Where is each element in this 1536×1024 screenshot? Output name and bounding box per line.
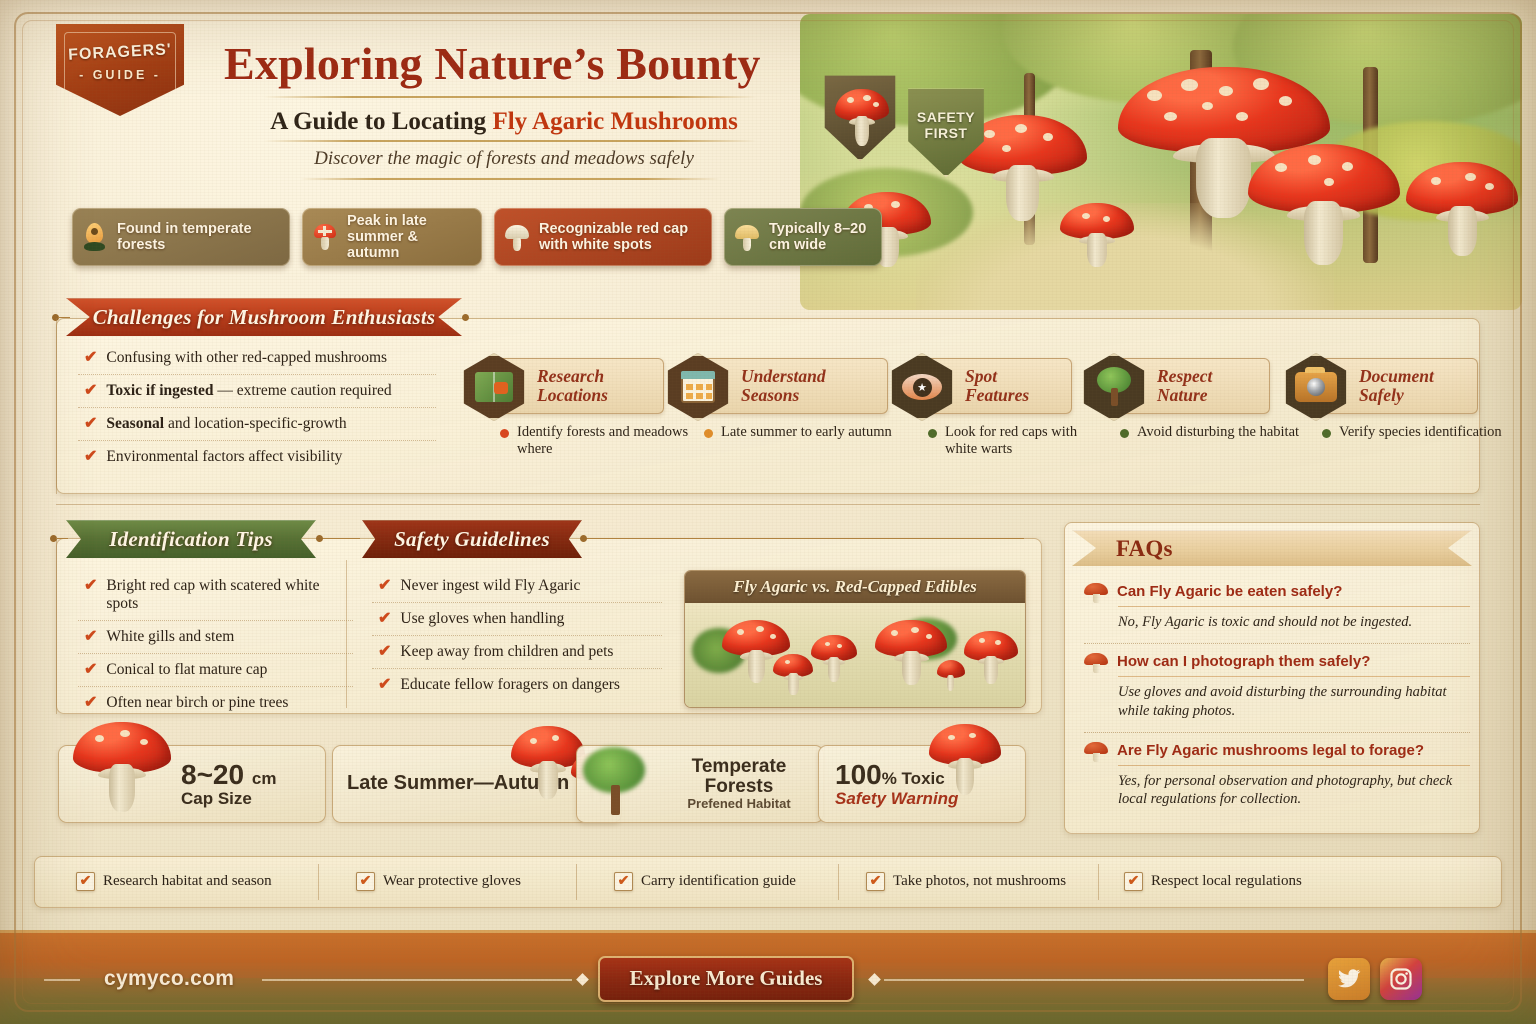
location-pin-icon [82, 222, 108, 252]
step-label: Understand Seasons [741, 367, 826, 405]
checkbox-icon: ✔ [356, 872, 375, 891]
mushroom-tan-icon [734, 222, 760, 252]
footer-checklist-item[interactable]: ✔Take photos, not mushrooms [866, 872, 1066, 891]
challenges-list: ✔Confusing with other red-capped mushroo… [78, 342, 436, 473]
step-document-safely[interactable]: Document Safely Verify species identific… [1306, 358, 1478, 414]
stat-card-habitat: Temperate Forests Prefened Habitat [576, 745, 824, 823]
infographic-poster: SAFETY FIRST FORAGERS' - GUIDE - Explori… [0, 0, 1536, 1024]
faq-title: FAQs [1116, 536, 1173, 562]
checkbox-icon: ✔ [866, 872, 885, 891]
hero-forest-illustration [800, 14, 1522, 310]
identification-ribbon: Identification Tips [66, 520, 316, 558]
fact-pill-season[interactable]: Peak in late summer & autumn [302, 208, 482, 266]
identification-item: ✔Bright red cap with scatered white spot… [78, 570, 353, 621]
step-label: Spot Features [965, 367, 1029, 405]
safety-title: Safety Guidelines [394, 527, 550, 552]
comparison-image-card: Fly Agaric vs. Red-Capped Edibles [684, 570, 1026, 708]
fact-pill-habitat[interactable]: Found in temperate forests [72, 208, 290, 266]
step-note: Look for red caps with white warts [928, 424, 1098, 459]
check-icon: ✔ [84, 694, 97, 712]
fact-pill-appearance[interactable]: Recognizable red cap with white spots [494, 208, 712, 266]
challenges-ribbon: Challenges for Mushroom Enthusiasts [66, 298, 462, 336]
step-understand-seasons[interactable]: Understand Seasons Late summer to early … [688, 358, 888, 414]
badge-bottom-text: - GUIDE - [56, 68, 184, 82]
comparison-title: Fly Agaric vs. Red-Capped Edibles [685, 571, 1025, 603]
safety-item: ✔Use gloves when handling [372, 603, 662, 636]
challenge-item: ✔Confusing with other red-capped mushroo… [78, 342, 436, 375]
challenge-item: ✔Toxic if ingested — extreme caution req… [78, 375, 436, 408]
step-respect-nature[interactable]: Respect Nature Avoid disturbing the habi… [1104, 358, 1270, 414]
identification-item: ✔White gills and stem [78, 621, 353, 654]
challenge-item-text: — extreme caution required [213, 382, 391, 399]
comparison-illustration [685, 603, 1025, 708]
step-note: Avoid disturbing the habitat [1120, 424, 1310, 441]
page-subtitle: A Guide to Locating Fly Agaric Mushrooms [224, 108, 784, 136]
mushroom-illustration [1060, 203, 1134, 265]
bullet-dot [1120, 429, 1129, 438]
identification-item: ✔Conical to flat mature cap [78, 654, 353, 687]
step-label: Document Safely [1359, 367, 1434, 405]
fact-pill-habitat-label: Found in temperate forests [117, 221, 276, 253]
safety-list: ✔Never ingest wild Fly Agaric ✔Use glove… [372, 570, 662, 701]
stat-label: Cap Size [181, 790, 276, 808]
check-icon: ✔ [84, 661, 97, 679]
key-facts-pill-row: Found in temperate forests Peak in late … [72, 208, 882, 266]
footer-checklist-item[interactable]: ✔Research habitat and season [76, 872, 272, 891]
mushroom-icon [1084, 583, 1108, 603]
page-title: Exploring Nature’s Bounty [224, 40, 794, 89]
footer-bar: cymyco.com Explore More Guides [0, 930, 1536, 1024]
mushroom-illustration [1248, 144, 1400, 262]
check-icon: ✔ [378, 610, 391, 628]
safety-ribbon: Safety Guidelines [362, 520, 582, 558]
safety-item: ✔Never ingest wild Fly Agaric [372, 570, 662, 603]
step-spot-features[interactable]: ★ Spot Features Look for red caps with w… [912, 358, 1072, 414]
check-icon: ✔ [378, 643, 391, 661]
check-icon: ✔ [84, 628, 97, 646]
checkbox-icon: ✔ [76, 872, 95, 891]
check-icon: ✔ [378, 676, 391, 694]
stat-label: Temperate Forests [655, 757, 823, 797]
faq-question-row: Can Fly Agaric be eaten safely? [1084, 583, 1470, 603]
fact-pill-season-label: Peak in late summer & autumn [347, 213, 468, 262]
faq-question: Can Fly Agaric be eaten safely? [1117, 583, 1342, 600]
identification-item: ✔Often near birch or pine trees [78, 687, 353, 719]
foragers-guide-badge: FORAGERS' - GUIDE - [56, 24, 184, 116]
challenges-title: Challenges for Mushroom Enthusiasts [93, 305, 436, 330]
fact-pill-size-label: Typically 8–20 cm wide [769, 221, 868, 253]
faq-question-row: How can I photograph them safely? [1084, 653, 1470, 673]
faq-list: Can Fly Agaric be eaten safely? No, Fly … [1084, 574, 1470, 820]
stat-card-cap-size: 8~20 cm Cap Size [58, 745, 326, 823]
identification-title: Identification Tips [109, 527, 272, 552]
mushroom-illustration [1406, 162, 1518, 254]
challenge-item: ✔Seasonal and location-specific-growth [78, 408, 436, 441]
check-icon: ✔ [84, 415, 97, 433]
step-label: Respect Nature [1157, 367, 1212, 405]
check-icon: ✔ [84, 382, 97, 400]
checkbox-icon: ✔ [614, 872, 633, 891]
faq-question: Are Fly Agaric mushrooms legal to forage… [1117, 742, 1424, 759]
stat-card-toxicity: 100% Toxic Safety Warning [818, 745, 1026, 823]
step-note: Verify species identification [1322, 424, 1502, 441]
step-label: Research Locations [537, 367, 608, 405]
faq-item[interactable]: Are Fly Agaric mushrooms legal to forage… [1084, 733, 1470, 821]
mushroom-red-icon [312, 222, 338, 252]
check-icon: ✔ [84, 349, 97, 367]
safety-item: ✔Educate fellow foragers on dangers [372, 669, 662, 701]
site-url: cymyco.com [104, 967, 234, 991]
check-icon: ✔ [84, 448, 97, 466]
safety-badge-line2: FIRST [925, 125, 968, 141]
stat-sublabel: Prefened Habitat [655, 797, 823, 811]
challenge-item: ✔Environmental factors affect visibility [78, 441, 436, 473]
footer-checklist-item[interactable]: ✔Respect local regulations [1124, 872, 1302, 891]
safety-item: ✔Keep away from children and pets [372, 636, 662, 669]
mushroom-white-icon [504, 222, 530, 252]
faq-answer: No, Fly Agaric is toxic and should not b… [1118, 613, 1470, 632]
faq-item[interactable]: Can Fly Agaric be eaten safely? No, Fly … [1084, 574, 1470, 644]
mushroom-icon [1084, 742, 1108, 762]
check-icon: ✔ [378, 577, 391, 595]
bullet-dot [928, 429, 937, 438]
fact-pill-appearance-label: Recognizable red cap with white spots [539, 221, 698, 253]
subtitle-highlight: Fly Agaric Mushrooms [492, 108, 737, 135]
faq-answer: Yes, for personal observation and photog… [1118, 772, 1470, 810]
checkbox-icon: ✔ [1124, 872, 1143, 891]
footer-checklist-item[interactable]: ✔Carry identification guide [614, 872, 796, 891]
identification-list: ✔Bright red cap with scatered white spot… [78, 570, 353, 719]
faq-ribbon: FAQs [1072, 530, 1472, 566]
fact-pill-size[interactable]: Typically 8–20 cm wide [724, 208, 882, 266]
instagram-icon[interactable] [1380, 958, 1422, 1000]
twitter-icon[interactable] [1328, 958, 1370, 1000]
step-note: Late summer to early autumn [704, 424, 914, 441]
faq-question-row: Are Fly Agaric mushrooms legal to forage… [1084, 742, 1470, 762]
faq-answer: Use gloves and avoid disturbing the surr… [1118, 683, 1470, 721]
step-research-locations[interactable]: Research Locations Identify forests and … [484, 358, 664, 414]
bullet-dot [704, 429, 713, 438]
challenge-item-bold: Seasonal [106, 415, 164, 432]
safety-badge-line1: SAFETY [917, 109, 975, 125]
stat-value: 8~20 cm [181, 760, 276, 790]
step-note: Identify forests and meadows where [500, 424, 690, 459]
mushroom-icon [1084, 653, 1108, 673]
bullet-dot [500, 429, 509, 438]
footer-checklist-item[interactable]: ✔Wear protective gloves [356, 872, 521, 891]
faq-question: How can I photograph them safely? [1117, 653, 1370, 670]
explore-more-guides-button[interactable]: Explore More Guides [598, 956, 854, 1002]
subtitle-prefix: A Guide to Locating [270, 108, 492, 135]
challenge-item-text: Environmental factors affect visibility [106, 448, 342, 465]
challenge-item-bold: Toxic if ingested [106, 382, 213, 399]
page-tagline: Discover the magic of forests and meadow… [224, 148, 784, 170]
challenge-item-text: Confusing with other red-capped mushroom… [106, 349, 387, 366]
check-icon: ✔ [84, 577, 97, 595]
bullet-dot [1322, 429, 1331, 438]
challenge-item-text: and location-specific-growth [164, 415, 347, 432]
faq-item[interactable]: How can I photograph them safely? Use gl… [1084, 644, 1470, 733]
